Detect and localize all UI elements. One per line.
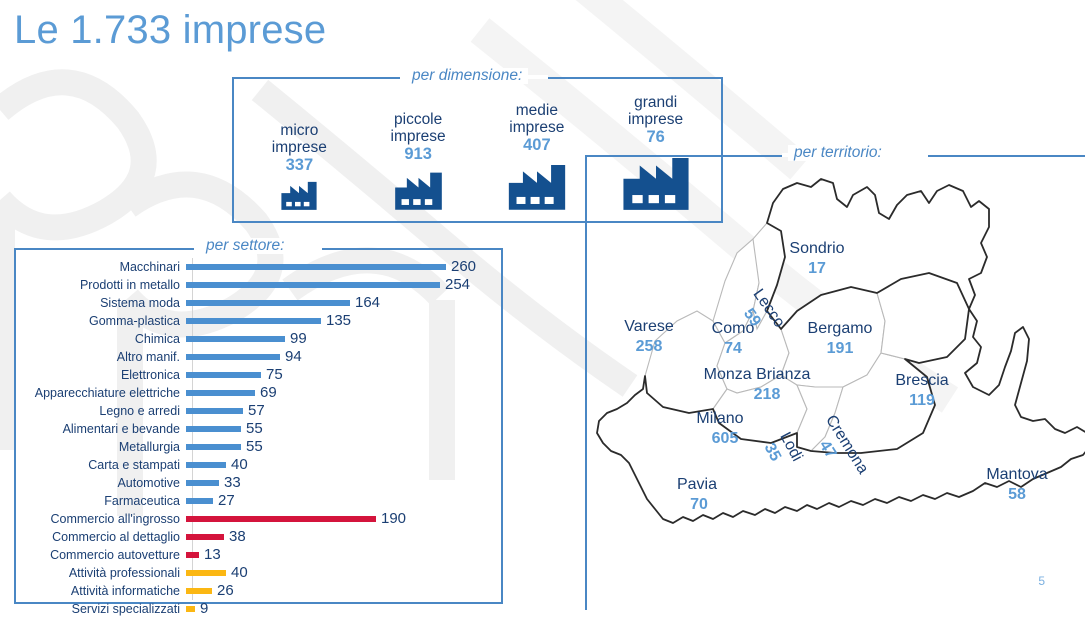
bar-row: Apparecchiature elettriche69 [14, 384, 499, 402]
bar-track: 13 [186, 546, 499, 564]
bar-category-label: Apparecchiature elettriche [14, 386, 186, 400]
bar-category-label: Sistema moda [14, 296, 186, 310]
dimensione-item-label-line2: imprese [391, 128, 446, 145]
bar-row: Metallurgia55 [14, 438, 499, 456]
bar-track: 40 [186, 564, 499, 582]
bar-row: Commercio al dettaglio38 [14, 528, 499, 546]
bar-row: Elettronica75 [14, 366, 499, 384]
province-label-varese: Varese [624, 318, 674, 335]
settore-bar-chart: Macchinari260Prodotti in metallo254Siste… [14, 258, 499, 600]
bar-fill [186, 300, 350, 306]
bar-row: Sistema moda164 [14, 294, 499, 312]
bar-fill [186, 318, 321, 324]
page-title: Le 1.733 imprese [14, 8, 326, 53]
bar-value-label: 135 [326, 312, 351, 330]
bar-row: Commercio autovetture13 [14, 546, 499, 564]
bar-fill [186, 498, 213, 504]
bar-track: 55 [186, 420, 499, 438]
bar-track: 75 [186, 366, 499, 384]
bar-category-label: Chimica [14, 332, 186, 346]
dimensione-item-label-line1: piccole [394, 111, 442, 128]
bar-track: 69 [186, 384, 499, 402]
bar-fill [186, 264, 446, 270]
bar-value-label: 75 [266, 366, 283, 384]
bar-value-label: 55 [246, 438, 263, 456]
bar-category-label: Metallurgia [14, 440, 186, 454]
bar-row: Commercio all'ingrosso190 [14, 510, 499, 528]
province-value-bergamo: 191 [827, 340, 854, 357]
bar-track: 135 [186, 312, 499, 330]
bar-value-label: 190 [381, 510, 406, 528]
bar-row: Prodotti in metallo254 [14, 276, 499, 294]
bar-track: 40 [186, 456, 499, 474]
bar-fill [186, 480, 219, 486]
bar-track: 57 [186, 402, 499, 420]
province-label-bergamo: Bergamo [808, 320, 873, 337]
bar-value-label: 94 [285, 348, 302, 366]
bar-value-label: 99 [290, 330, 307, 348]
bar-value-label: 69 [260, 384, 277, 402]
bar-category-label: Automotive [14, 476, 186, 490]
lombardy-map: Sondrio 17 Varese 258 Como 74 Lecco 59 B… [585, 161, 1085, 591]
bar-row: Altro manif.94 [14, 348, 499, 366]
province-label-brescia: Brescia [895, 372, 948, 389]
dimensione-item-label-line2: imprese [509, 119, 564, 136]
bar-fill [186, 516, 376, 522]
dimensione-item-label-line2: imprese [628, 111, 683, 128]
bar-value-label: 33 [224, 474, 241, 492]
bar-value-label: 27 [218, 492, 235, 510]
province-label-monza-brianza: Monza Brianza [704, 366, 811, 383]
bar-track: 190 [186, 510, 499, 528]
dimensione-item-value: 407 [523, 136, 551, 155]
factory-icon [392, 166, 445, 215]
bar-value-label: 164 [355, 294, 380, 312]
dimensione-item-label-line2: imprese [272, 139, 327, 156]
bar-fill [186, 390, 255, 396]
settore-title: per settore: [200, 238, 290, 254]
bar-fill [186, 534, 224, 540]
factory-icon [279, 177, 319, 215]
province-value-milano: 605 [712, 430, 739, 447]
bar-fill [186, 426, 241, 432]
bar-category-label: Servizi specializzati [14, 602, 186, 616]
bar-fill [186, 408, 243, 414]
province-label-sondrio: Sondrio [789, 240, 844, 257]
bar-value-label: 26 [217, 582, 234, 600]
province-value-pavia: 70 [690, 496, 708, 513]
bar-fill [186, 444, 241, 450]
province-value-varese: 258 [636, 338, 663, 355]
bar-fill [186, 354, 280, 360]
bar-fill [186, 570, 226, 576]
bar-value-label: 40 [231, 456, 248, 474]
dimensione-item-label-line1: grandi [634, 94, 677, 111]
bar-fill [186, 606, 195, 612]
dimensione-item-piccole: piccole imprese 913 [359, 111, 477, 215]
bar-fill [186, 372, 261, 378]
province-label-milano: Milano [696, 410, 743, 427]
province-value-mantova: 58 [1008, 486, 1026, 503]
dimensione-item-value: 913 [404, 145, 432, 164]
bar-category-label: Legno e arredi [14, 404, 186, 418]
bar-track: 55 [186, 438, 499, 456]
bar-value-label: 260 [451, 258, 476, 276]
bar-value-label: 57 [248, 402, 265, 420]
bar-row: Automotive33 [14, 474, 499, 492]
bar-row: Carta e stampati40 [14, 456, 499, 474]
bar-category-label: Alimentari e bevande [14, 422, 186, 436]
dimensione-item-value: 76 [646, 128, 664, 147]
dimensione-item-label-line1: micro [280, 122, 318, 139]
bar-row: Gomma-plastica135 [14, 312, 499, 330]
bar-value-label: 254 [445, 276, 470, 294]
bar-fill [186, 552, 199, 558]
bar-track: 164 [186, 294, 499, 312]
bar-category-label: Commercio al dettaglio [14, 530, 186, 544]
bar-value-label: 38 [229, 528, 246, 546]
bar-category-label: Elettronica [14, 368, 186, 382]
bar-track: 38 [186, 528, 499, 546]
bar-category-label: Attività professionali [14, 566, 186, 580]
province-label-pavia: Pavia [677, 476, 717, 493]
dimensione-item-micro: micro imprese 337 [240, 122, 358, 215]
bar-category-label: Prodotti in metallo [14, 278, 186, 292]
province-value-brescia: 119 [909, 392, 935, 409]
bar-row: Alimentari e bevande55 [14, 420, 499, 438]
dimensione-item-medie: medie imprese 407 [478, 102, 596, 215]
territorio-panel: per territorio: Sondrio 17 [585, 155, 1085, 610]
bar-row: Attività professionali40 [14, 564, 499, 582]
bar-fill [186, 336, 285, 342]
dimensione-item-value: 337 [286, 156, 314, 175]
bar-fill [186, 462, 226, 468]
territorio-title: per territorio: [788, 145, 888, 161]
bar-track: 33 [186, 474, 499, 492]
bar-category-label: Altro manif. [14, 350, 186, 364]
bar-track: 94 [186, 348, 499, 366]
bar-track: 27 [186, 492, 499, 510]
province-value-como: 74 [724, 340, 742, 357]
bar-row: Attività informatiche26 [14, 582, 499, 600]
bar-value-label: 40 [231, 564, 248, 582]
bar-value-label: 55 [246, 420, 263, 438]
bar-track: 99 [186, 330, 499, 348]
dimensione-item-label-line1: medie [516, 102, 558, 119]
bar-category-label: Commercio all'ingrosso [14, 512, 186, 526]
bar-value-label: 13 [204, 546, 221, 564]
factory-icon [505, 157, 569, 215]
bar-row: Chimica99 [14, 330, 499, 348]
bar-category-label: Gomma-plastica [14, 314, 186, 328]
bar-category-label: Macchinari [14, 260, 186, 274]
bar-category-label: Farmaceutica [14, 494, 186, 508]
bar-track: 26 [186, 582, 499, 600]
bar-fill [186, 282, 440, 288]
province-label-mantova: Mantova [986, 466, 1047, 483]
bar-track: 260 [186, 258, 499, 276]
province-value-monza-brianza: 218 [754, 386, 781, 403]
bar-category-label: Carta e stampati [14, 458, 186, 472]
bar-row: Macchinari260 [14, 258, 499, 276]
bar-value-label: 9 [200, 600, 208, 618]
bar-track: 9 [186, 600, 499, 618]
page-number: 5 [1038, 574, 1045, 588]
bar-row: Legno e arredi57 [14, 402, 499, 420]
settore-panel: per settore: Macchinari260Prodotti in me… [14, 248, 503, 604]
bar-row: Servizi specializzati9 [14, 600, 499, 618]
bar-row: Farmaceutica27 [14, 492, 499, 510]
bar-category-label: Commercio autovetture [14, 548, 186, 562]
province-value-sondrio: 17 [808, 260, 826, 277]
bar-fill [186, 588, 212, 594]
bar-track: 254 [186, 276, 499, 294]
bar-category-label: Attività informatiche [14, 584, 186, 598]
